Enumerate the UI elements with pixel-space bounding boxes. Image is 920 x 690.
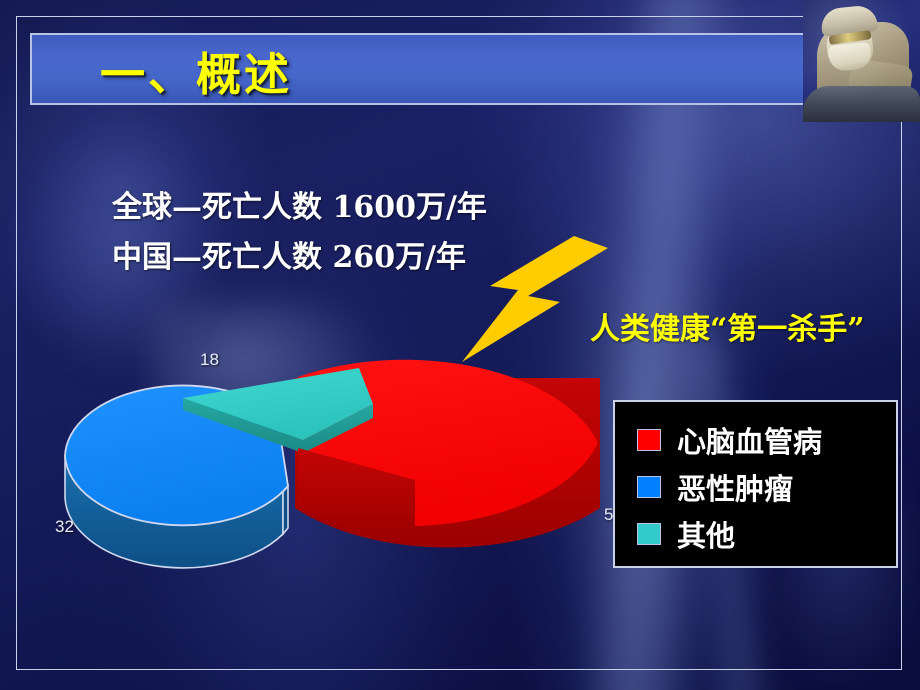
pie-data-label-tumor: 32 [55, 517, 74, 537]
legend-label-cvd: 心脑血管病 [677, 419, 822, 461]
legend-swatch-tumor [637, 476, 661, 498]
legend-label-tumor: 恶性肿瘤 [677, 466, 793, 508]
page-title: 一、概述 [100, 38, 292, 103]
legend-swatch-cvd [637, 429, 661, 451]
presentation-slide: 一、概述 全球—死亡人数 1600万/年 中国—死亡人数 260万/年 人类健康… [0, 0, 920, 690]
pie-data-label-other: 18 [200, 350, 219, 370]
chart-legend: 心脑血管病 恶性肿瘤 其他 [613, 400, 898, 568]
legend-item-tumor[interactable]: 恶性肿瘤 [637, 463, 896, 510]
stat-line-global: 全球—死亡人数 1600万/年 [112, 182, 487, 226]
callout-label: 人类健康“第一杀手” [590, 304, 865, 348]
legend-label-other: 其他 [677, 513, 735, 555]
pie-chart [55, 348, 645, 583]
surgeon-photo [803, 0, 920, 122]
legend-swatch-other [637, 523, 661, 545]
legend-item-cvd[interactable]: 心脑血管病 [637, 416, 896, 463]
legend-item-other[interactable]: 其他 [637, 510, 896, 557]
photo-highlight [803, 0, 920, 122]
stat-line-china: 中国—死亡人数 260万/年 [112, 232, 466, 276]
